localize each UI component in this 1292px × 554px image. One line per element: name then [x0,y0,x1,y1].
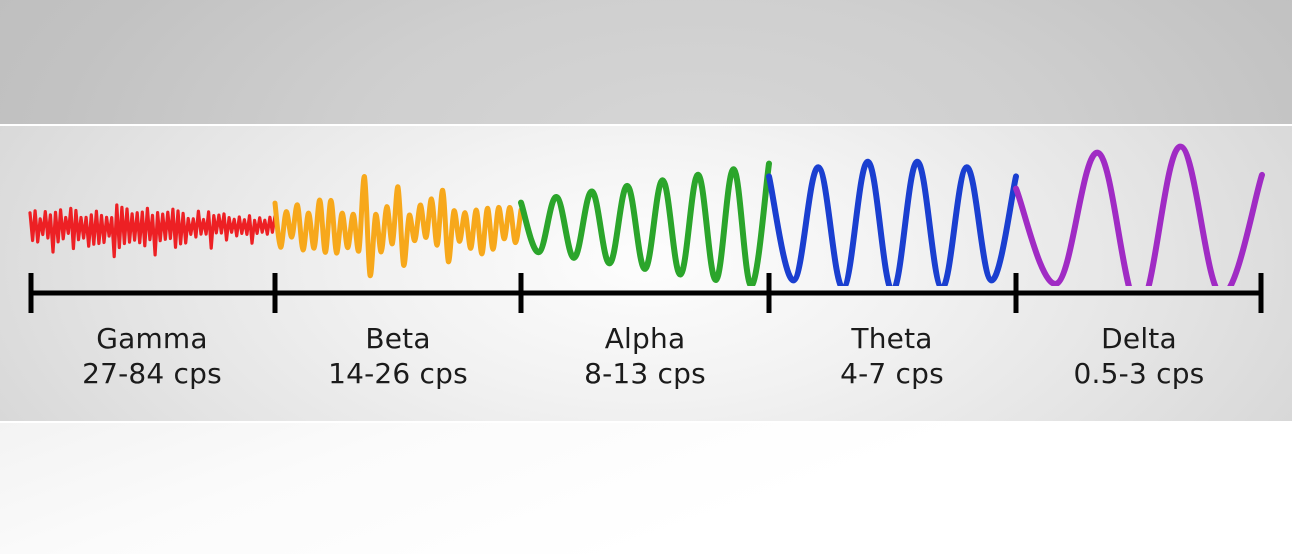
wave-trace-gamma [30,205,275,257]
figure-top-background [0,0,1292,125]
brainwave-traces [0,126,1292,286]
wave-trace-beta [275,177,521,276]
frequency-axis [0,270,1292,320]
eeg-frequency-band-figure: Gamma27-84 cpsBeta14-26 cpsAlpha8-13 cps… [0,0,1292,554]
wave-trace-alpha [521,164,769,286]
band-label-delta: Delta0.5-3 cps [989,322,1289,390]
wave-trace-delta [1016,147,1262,286]
wave-trace-theta [769,162,1016,286]
band-frequency-range: 0.5-3 cps [989,357,1289,390]
band-labels: Gamma27-84 cpsBeta14-26 cpsAlpha8-13 cps… [0,322,1292,412]
wave-paths-group [30,147,1262,286]
axis-line-and-ticks [30,273,1262,313]
figure-bottom-background [0,423,1292,554]
band-name: Delta [989,322,1289,355]
